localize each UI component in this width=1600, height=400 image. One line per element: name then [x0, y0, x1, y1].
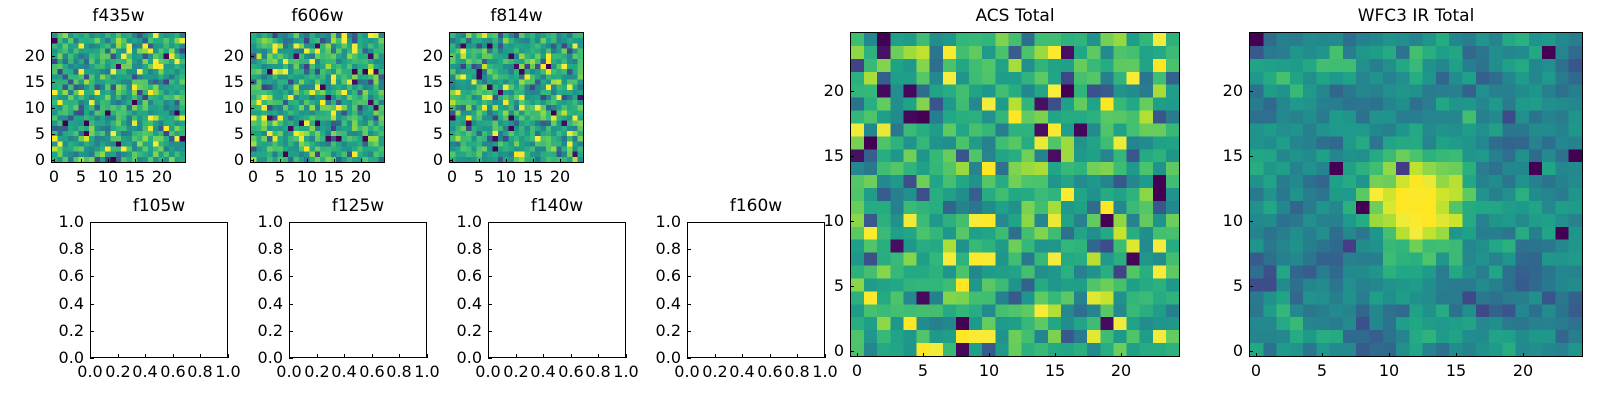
axes-wfc3_ir_total — [1249, 32, 1583, 357]
xtick-wfc3_ir_total-4 — [1523, 353, 1524, 357]
xtick-f140w-3 — [571, 354, 572, 358]
xticklabel-f814w-0: 0 — [447, 169, 457, 185]
ytick-f606w-3 — [250, 82, 254, 83]
ytick-acs_total-1 — [850, 286, 854, 287]
yticklabel-f125w-4: 0.8 — [258, 241, 283, 257]
yticklabel-f606w-2: 10 — [224, 100, 244, 116]
yticklabel-f105w-3: 0.6 — [59, 268, 84, 284]
ytick-f125w-2 — [289, 304, 293, 305]
xticklabel-f140w-4: 0.8 — [585, 364, 610, 380]
xtick-f125w-3 — [372, 354, 373, 358]
xtick-f140w-1 — [516, 354, 517, 358]
yticklabel-f105w-0: 0.0 — [59, 350, 84, 366]
xtick-f160w-1 — [715, 354, 716, 358]
ytick-wfc3_ir_total-3 — [1249, 156, 1253, 157]
heatmap-image-f606w — [251, 33, 384, 162]
yticklabel-f814w-3: 15 — [423, 74, 443, 90]
xtick-f435w-1 — [81, 159, 82, 163]
yticklabel-acs_total-4: 20 — [824, 83, 844, 99]
xticklabel-f606w-0: 0 — [248, 169, 258, 185]
xtick-f140w-4 — [598, 354, 599, 358]
yticklabel-f814w-0: 0 — [433, 152, 443, 168]
xtick-f105w-1 — [118, 354, 119, 358]
ytick-f435w-1 — [51, 134, 55, 135]
xticklabel-f160w-5: 1.0 — [812, 364, 837, 380]
xtick-f105w-4 — [200, 354, 201, 358]
ytick-f160w-4 — [687, 249, 691, 250]
xticklabel-f140w-3: 0.6 — [558, 364, 583, 380]
ytick-f105w-4 — [90, 249, 94, 250]
ytick-f814w-0 — [449, 160, 453, 161]
panel-f435w: f435w0510152005101520 — [51, 6, 186, 193]
yticklabel-f140w-0: 0.0 — [457, 350, 482, 366]
xtick-acs_total-0 — [857, 353, 858, 357]
yticklabel-f140w-2: 0.4 — [457, 296, 482, 312]
xtick-f606w-4 — [361, 159, 362, 163]
yticklabel-f140w-3: 0.6 — [457, 268, 482, 284]
figure-canvas: f435w0510152005101520f606w05101520051015… — [0, 0, 1600, 400]
ytick-f140w-3 — [488, 276, 492, 277]
xticklabel-f105w-1: 0.2 — [105, 364, 130, 380]
ytick-f435w-0 — [51, 160, 55, 161]
panel-acs_total: ACS Total0510152005101520 — [850, 6, 1180, 387]
xticklabel-wfc3_ir_total-4: 20 — [1513, 363, 1533, 379]
ytick-f160w-2 — [687, 304, 691, 305]
ytick-f140w-0 — [488, 358, 492, 359]
xtick-f606w-3 — [334, 159, 335, 163]
panel-title-f105w: f105w — [90, 198, 228, 215]
ytick-wfc3_ir_total-1 — [1249, 286, 1253, 287]
xticklabel-f140w-5: 1.0 — [613, 364, 638, 380]
xticklabel-f435w-3: 15 — [125, 169, 145, 185]
xticklabel-f105w-3: 0.6 — [160, 364, 185, 380]
xticklabel-wfc3_ir_total-2: 10 — [1379, 363, 1399, 379]
xtick-f105w-2 — [145, 354, 146, 358]
yticklabel-f105w-4: 0.8 — [59, 241, 84, 257]
xtick-f160w-3 — [770, 354, 771, 358]
xtick-wfc3_ir_total-3 — [1456, 353, 1457, 357]
yticklabel-f814w-4: 20 — [423, 48, 443, 64]
xtick-wfc3_ir_total-2 — [1389, 353, 1390, 357]
panel-title-f606w: f606w — [250, 8, 385, 25]
axes-f606w — [250, 32, 385, 163]
yticklabel-f160w-3: 0.6 — [656, 268, 681, 284]
xticklabel-f160w-2: 0.4 — [729, 364, 754, 380]
heatmap-image-wfc3_ir_total — [1250, 33, 1582, 356]
yticklabel-f435w-0: 0 — [35, 152, 45, 168]
yticklabel-wfc3_ir_total-2: 10 — [1223, 213, 1243, 229]
ytick-f160w-1 — [687, 331, 691, 332]
yticklabel-f105w-2: 0.4 — [59, 296, 84, 312]
yticklabel-acs_total-0: 0 — [834, 343, 844, 359]
xticklabel-f435w-0: 0 — [49, 169, 59, 185]
ytick-f160w-3 — [687, 276, 691, 277]
ytick-wfc3_ir_total-4 — [1249, 91, 1253, 92]
xticklabel-wfc3_ir_total-0: 0 — [1251, 363, 1261, 379]
xticklabel-f160w-1: 0.2 — [702, 364, 727, 380]
yticklabel-f125w-3: 0.6 — [258, 268, 283, 284]
xtick-f160w-4 — [797, 354, 798, 358]
panel-title-acs_total: ACS Total — [850, 8, 1180, 25]
yticklabel-acs_total-2: 10 — [824, 213, 844, 229]
ytick-f160w-5 — [687, 222, 691, 223]
xtick-f606w-2 — [307, 159, 308, 163]
ytick-f140w-1 — [488, 331, 492, 332]
yticklabel-f125w-0: 0.0 — [258, 350, 283, 366]
xticklabel-f105w-5: 1.0 — [215, 364, 240, 380]
xticklabel-f125w-3: 0.6 — [359, 364, 384, 380]
xtick-f606w-1 — [280, 159, 281, 163]
xtick-acs_total-4 — [1121, 353, 1122, 357]
xticklabel-f105w-2: 0.4 — [132, 364, 157, 380]
xtick-f105w-5 — [228, 354, 229, 358]
yticklabel-f435w-2: 10 — [25, 100, 45, 116]
ytick-f814w-3 — [449, 82, 453, 83]
xticklabel-f140w-2: 0.4 — [530, 364, 555, 380]
yticklabel-wfc3_ir_total-3: 15 — [1223, 148, 1243, 164]
ytick-f140w-2 — [488, 304, 492, 305]
xtick-wfc3_ir_total-1 — [1322, 353, 1323, 357]
heatmap-image-acs_total — [851, 33, 1179, 356]
axes-f125w — [289, 222, 427, 358]
xticklabel-acs_total-3: 15 — [1045, 363, 1065, 379]
ytick-f125w-4 — [289, 249, 293, 250]
panel-wfc3_ir_total: WFC3 IR Total0510152005101520 — [1249, 6, 1583, 387]
xticklabel-f435w-4: 20 — [152, 169, 172, 185]
axes-f160w — [687, 222, 825, 358]
panel-f105w: f105w0.00.20.40.60.81.00.00.20.40.60.81.… — [90, 196, 228, 388]
ytick-f160w-0 — [687, 358, 691, 359]
xtick-f814w-3 — [533, 159, 534, 163]
xticklabel-acs_total-0: 0 — [852, 363, 862, 379]
xticklabel-f125w-5: 1.0 — [414, 364, 439, 380]
ytick-f105w-3 — [90, 276, 94, 277]
xtick-f435w-4 — [162, 159, 163, 163]
xtick-f814w-1 — [479, 159, 480, 163]
xticklabel-wfc3_ir_total-1: 5 — [1317, 363, 1327, 379]
ytick-f105w-2 — [90, 304, 94, 305]
xticklabel-f814w-4: 20 — [550, 169, 570, 185]
axes-f814w — [449, 32, 584, 163]
panel-f606w: f606w0510152005101520 — [250, 6, 385, 193]
ytick-f606w-2 — [250, 108, 254, 109]
yticklabel-f160w-5: 1.0 — [656, 214, 681, 230]
yticklabel-f140w-1: 0.2 — [457, 323, 482, 339]
xtick-f125w-5 — [427, 354, 428, 358]
xtick-f125w-1 — [317, 354, 318, 358]
ytick-f125w-3 — [289, 276, 293, 277]
yticklabel-wfc3_ir_total-0: 0 — [1233, 343, 1243, 359]
xticklabel-f606w-1: 5 — [275, 169, 285, 185]
yticklabel-f140w-4: 0.8 — [457, 241, 482, 257]
axes-f435w — [51, 32, 186, 163]
yticklabel-f606w-3: 15 — [224, 74, 244, 90]
xticklabel-acs_total-1: 5 — [918, 363, 928, 379]
ytick-f606w-1 — [250, 134, 254, 135]
ytick-f140w-4 — [488, 249, 492, 250]
yticklabel-acs_total-1: 5 — [834, 278, 844, 294]
xtick-f814w-4 — [560, 159, 561, 163]
axes-f105w — [90, 222, 228, 358]
heatmap-image-f435w — [52, 33, 185, 162]
yticklabel-f814w-1: 5 — [433, 126, 443, 142]
panel-title-f814w: f814w — [449, 8, 584, 25]
yticklabel-f105w-5: 1.0 — [59, 214, 84, 230]
xticklabel-f814w-2: 10 — [496, 169, 516, 185]
panel-f814w: f814w0510152005101520 — [449, 6, 584, 193]
panel-f140w: f140w0.00.20.40.60.81.00.00.20.40.60.81.… — [488, 196, 626, 388]
yticklabel-wfc3_ir_total-4: 20 — [1223, 83, 1243, 99]
ytick-f435w-3 — [51, 82, 55, 83]
yticklabel-wfc3_ir_total-1: 5 — [1233, 278, 1243, 294]
xticklabel-f160w-4: 0.8 — [784, 364, 809, 380]
xticklabel-f814w-1: 5 — [474, 169, 484, 185]
xtick-acs_total-2 — [989, 353, 990, 357]
ytick-f606w-4 — [250, 56, 254, 57]
xtick-acs_total-1 — [923, 353, 924, 357]
yticklabel-f435w-1: 5 — [35, 126, 45, 142]
xtick-f105w-3 — [173, 354, 174, 358]
xtick-f814w-2 — [506, 159, 507, 163]
xtick-f435w-3 — [135, 159, 136, 163]
yticklabel-f435w-3: 15 — [25, 74, 45, 90]
ytick-f105w-0 — [90, 358, 94, 359]
yticklabel-f125w-1: 0.2 — [258, 323, 283, 339]
ytick-f606w-0 — [250, 160, 254, 161]
ytick-acs_total-0 — [850, 351, 854, 352]
yticklabel-f160w-1: 0.2 — [656, 323, 681, 339]
panel-f160w: f160w0.00.20.40.60.81.00.00.20.40.60.81.… — [687, 196, 825, 388]
xticklabel-f814w-3: 15 — [523, 169, 543, 185]
xtick-f435w-2 — [108, 159, 109, 163]
yticklabel-f140w-5: 1.0 — [457, 214, 482, 230]
xtick-f160w-2 — [742, 354, 743, 358]
ytick-f435w-4 — [51, 56, 55, 57]
xtick-wfc3_ir_total-0 — [1256, 353, 1257, 357]
xticklabel-f125w-4: 0.8 — [386, 364, 411, 380]
heatmap-image-f814w — [450, 33, 583, 162]
axes-acs_total — [850, 32, 1180, 357]
panel-title-f140w: f140w — [488, 198, 626, 215]
xticklabel-f435w-1: 5 — [76, 169, 86, 185]
xticklabel-wfc3_ir_total-3: 15 — [1446, 363, 1466, 379]
xtick-acs_total-3 — [1055, 353, 1056, 357]
ytick-f140w-5 — [488, 222, 492, 223]
panel-title-wfc3_ir_total: WFC3 IR Total — [1249, 8, 1583, 25]
xticklabel-f435w-2: 10 — [98, 169, 118, 185]
panel-f125w: f125w0.00.20.40.60.81.00.00.20.40.60.81.… — [289, 196, 427, 388]
xtick-f140w-5 — [626, 354, 627, 358]
ytick-f105w-5 — [90, 222, 94, 223]
ytick-f435w-2 — [51, 108, 55, 109]
axes-f140w — [488, 222, 626, 358]
ytick-f125w-0 — [289, 358, 293, 359]
xticklabel-f606w-2: 10 — [297, 169, 317, 185]
yticklabel-f125w-5: 1.0 — [258, 214, 283, 230]
yticklabel-acs_total-3: 15 — [824, 148, 844, 164]
ytick-acs_total-2 — [850, 221, 854, 222]
ytick-wfc3_ir_total-2 — [1249, 221, 1253, 222]
yticklabel-f814w-2: 10 — [423, 100, 443, 116]
panel-title-f435w: f435w — [51, 8, 186, 25]
yticklabel-f606w-0: 0 — [234, 152, 244, 168]
ytick-f125w-1 — [289, 331, 293, 332]
xticklabel-f125w-2: 0.4 — [331, 364, 356, 380]
ytick-acs_total-3 — [850, 156, 854, 157]
ytick-f814w-4 — [449, 56, 453, 57]
ytick-f814w-1 — [449, 134, 453, 135]
yticklabel-f125w-2: 0.4 — [258, 296, 283, 312]
yticklabel-f160w-0: 0.0 — [656, 350, 681, 366]
yticklabel-f160w-2: 0.4 — [656, 296, 681, 312]
yticklabel-f606w-4: 20 — [224, 48, 244, 64]
xticklabel-f140w-1: 0.2 — [503, 364, 528, 380]
xtick-f125w-2 — [344, 354, 345, 358]
ytick-f125w-5 — [289, 222, 293, 223]
ytick-f814w-2 — [449, 108, 453, 109]
yticklabel-f160w-4: 0.8 — [656, 241, 681, 257]
xtick-f160w-5 — [825, 354, 826, 358]
panel-title-f160w: f160w — [687, 198, 825, 215]
ytick-f105w-1 — [90, 331, 94, 332]
ytick-acs_total-4 — [850, 91, 854, 92]
xticklabel-acs_total-2: 10 — [979, 363, 999, 379]
xtick-f140w-2 — [543, 354, 544, 358]
yticklabel-f105w-1: 0.2 — [59, 323, 84, 339]
xticklabel-f606w-4: 20 — [351, 169, 371, 185]
xticklabel-f160w-3: 0.6 — [757, 364, 782, 380]
yticklabel-f435w-4: 20 — [25, 48, 45, 64]
xticklabel-f105w-4: 0.8 — [187, 364, 212, 380]
ytick-wfc3_ir_total-0 — [1249, 351, 1253, 352]
xticklabel-f125w-1: 0.2 — [304, 364, 329, 380]
xtick-f125w-4 — [399, 354, 400, 358]
xticklabel-acs_total-4: 20 — [1111, 363, 1131, 379]
yticklabel-f606w-1: 5 — [234, 126, 244, 142]
panel-title-f125w: f125w — [289, 198, 427, 215]
xticklabel-f606w-3: 15 — [324, 169, 344, 185]
